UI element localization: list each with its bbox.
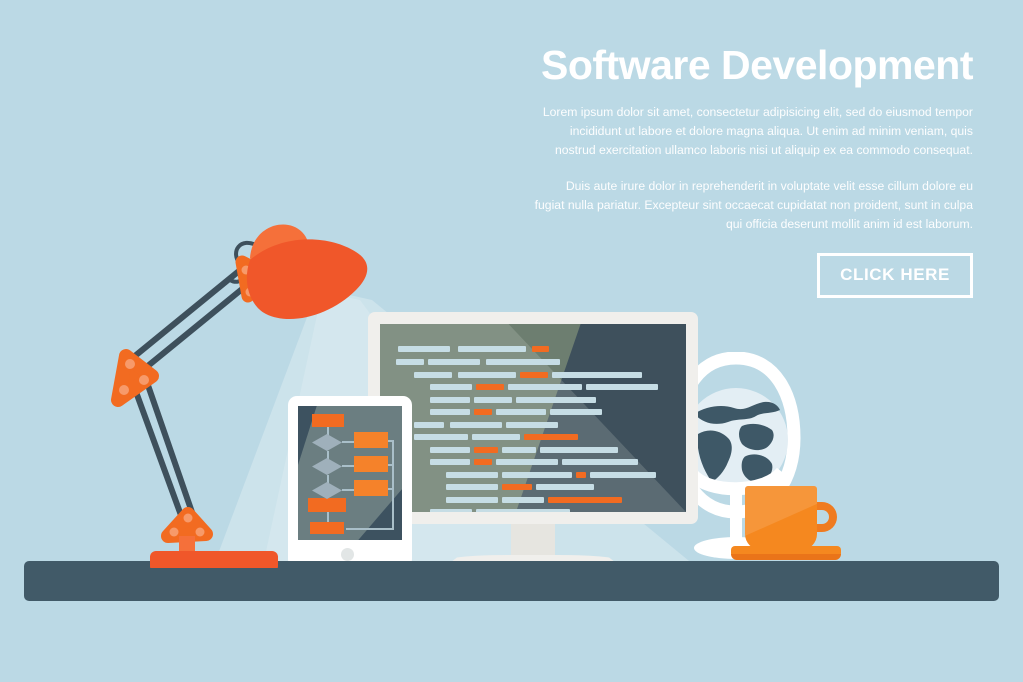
desk-lamp: [90, 218, 390, 568]
code-line-segment: [430, 447, 470, 453]
illustration-stage: Software Development Lorem ipsum dolor s…: [0, 0, 1023, 682]
code-line-segment: [532, 346, 549, 352]
code-line-segment: [586, 384, 658, 390]
lamp-base-joint: [168, 514, 206, 537]
code-line-segment: [502, 484, 532, 490]
code-line-segment: [552, 372, 642, 378]
code-line-segment: [496, 459, 558, 465]
code-line-segment: [446, 497, 498, 503]
code-line-segment: [430, 459, 470, 465]
code-line-segment: [486, 359, 560, 365]
code-line-segment: [562, 459, 638, 465]
lamp-base: [150, 551, 278, 568]
page-title: Software Development: [533, 44, 973, 87]
hero-paragraph-2: Duis aute irure dolor in reprehenderit i…: [533, 177, 973, 234]
code-line-segment: [508, 384, 582, 390]
code-line-segment: [474, 459, 492, 465]
cup-saucer: [731, 546, 841, 560]
code-line-segment: [476, 509, 570, 512]
code-line-segment: [472, 434, 520, 440]
lamp-elbow-joint: [118, 356, 152, 400]
code-line-segment: [474, 447, 498, 453]
code-line-segment: [520, 372, 548, 378]
code-line-segment: [548, 497, 622, 503]
code-line-segment: [536, 484, 594, 490]
code-line-segment: [458, 372, 516, 378]
cup-saucer-shadow: [731, 554, 841, 560]
code-line-segment: [576, 472, 586, 478]
code-line-segment: [414, 422, 444, 428]
cup-highlight: [745, 486, 817, 550]
code-line-segment: [430, 409, 470, 415]
code-line-segment: [414, 372, 452, 378]
code-line-segment: [474, 409, 492, 415]
code-line-segment: [430, 509, 472, 512]
monitor-bezel: [368, 312, 698, 524]
code-line-segment: [502, 447, 536, 453]
coffee-cup: [731, 480, 849, 565]
code-line-segment: [540, 447, 618, 453]
click-here-button[interactable]: CLICK HERE: [817, 253, 973, 298]
code-line-segment: [398, 346, 450, 352]
lamp-shade: [247, 239, 367, 319]
code-line-segment: [476, 384, 504, 390]
desktop-monitor: [368, 312, 698, 562]
hero-paragraph-1: Lorem ipsum dolor sit amet, consectetur …: [533, 103, 973, 160]
code-line-segment: [502, 497, 544, 503]
code-line-segment: [430, 384, 472, 390]
monitor-screen[interactable]: [380, 324, 686, 512]
flow-connector: [392, 440, 394, 530]
code-line-segment: [396, 359, 424, 365]
code-line-segment: [590, 472, 656, 478]
code-line-segment: [550, 409, 602, 415]
hero-text-block: Software Development Lorem ipsum dolor s…: [533, 44, 973, 298]
code-line-segment: [474, 397, 512, 403]
code-line-segment: [496, 409, 546, 415]
code-line-segment: [458, 346, 526, 352]
code-line-segment: [446, 472, 498, 478]
code-line-segment: [428, 359, 480, 365]
code-line-segment: [450, 422, 502, 428]
cup-body: [745, 486, 817, 550]
code-line-segment: [446, 484, 498, 490]
code-line-segment: [430, 397, 470, 403]
code-line-segment: [506, 422, 558, 428]
code-line-segment: [524, 434, 578, 440]
code-line-segment: [502, 472, 572, 478]
code-line-segment: [516, 397, 596, 403]
code-line-segment: [414, 434, 468, 440]
